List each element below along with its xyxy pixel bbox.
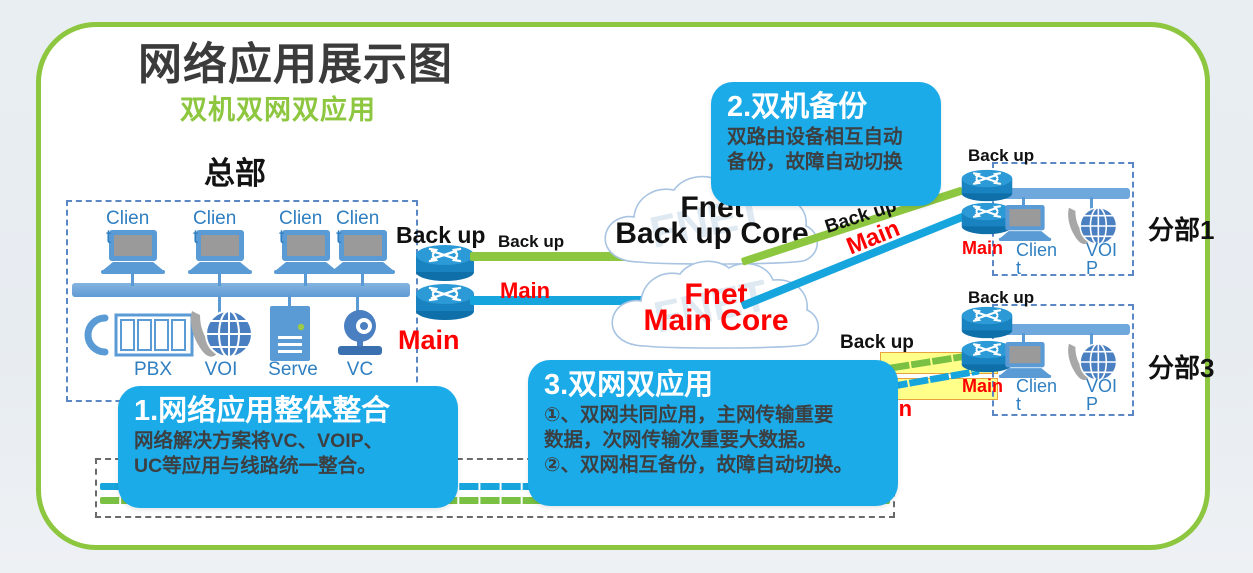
- callout-3-body-line-3: ②、双网相互备份，故障自动切换。: [544, 453, 882, 478]
- branch-1-bus: [996, 188, 1130, 199]
- hq-client-1-stub: [131, 274, 134, 286]
- hq-client-1-label: Client: [106, 209, 152, 247]
- callout-2-body: 双路由设备相互自动 备份，故障自动切换: [727, 125, 925, 175]
- branch-1-client-label: Client: [1016, 241, 1062, 277]
- branch-1-router-backup: [960, 168, 1014, 203]
- callout-2-body-line-1: 双路由设备相互自动: [727, 125, 925, 150]
- callout-1-title: 1.网络应用整体整合: [134, 395, 442, 427]
- voip-icon: [186, 305, 256, 363]
- branch-1-router-backup-label: Back up: [968, 146, 1034, 166]
- hq-router-backup: [414, 243, 476, 283]
- hq-client-2-label: Client: [193, 209, 239, 247]
- callout-1-body-line-1: 网络解决方案将VC、VOIP、: [134, 429, 442, 454]
- hq-client-3-stub: [304, 274, 307, 286]
- branch-3-client-label: Client: [1016, 377, 1062, 413]
- branch-3-title: 分部3: [1148, 348, 1214, 385]
- server-label: Serve: [258, 360, 328, 379]
- pbx-label: PBX: [118, 360, 188, 379]
- branch-1-router-main-label: Main: [962, 238, 1003, 259]
- branch-3-router-backup: [960, 305, 1014, 340]
- page-subtitle: 双机双网双应用: [180, 88, 376, 127]
- branch-1-title: 分部1: [1148, 210, 1214, 247]
- hq-client-2-stub: [218, 274, 221, 286]
- hq-client-3-label: Client: [279, 209, 325, 247]
- callout-1-body-line-2: UC等应用与线路统一整合。: [134, 454, 442, 479]
- hq-client-4-stub: [361, 274, 364, 286]
- branch-1-client-icon: [998, 204, 1052, 242]
- callout-2[interactable]: 2.双机备份 双路由设备相互自动 备份，故障自动切换: [711, 82, 941, 206]
- hq-main-link-label: Main: [500, 278, 550, 304]
- branch-3-client-icon: [998, 341, 1052, 379]
- branch3-backup-link-label: Back up: [840, 332, 914, 354]
- pbx-icon: [92, 310, 196, 360]
- headquarters-bus: [72, 283, 410, 297]
- branch-3-voip-label: VOIP: [1086, 377, 1122, 413]
- branch-3-router-main-label: Main: [962, 376, 1003, 397]
- hq-router-main-label: Main: [398, 325, 460, 356]
- callout-1-body: 网络解决方案将VC、VOIP、 UC等应用与线路统一整合。: [134, 429, 442, 479]
- headquarters-title: 总部: [204, 148, 266, 193]
- branch-3-bus: [996, 324, 1130, 335]
- voip-label: VOI: [191, 360, 251, 379]
- callout-2-title: 2.双机备份: [727, 91, 925, 123]
- hq-backup-link-label: Back up: [498, 232, 564, 252]
- vc-label: VC: [331, 360, 389, 379]
- vc-icon: [330, 308, 390, 360]
- branch-1-voip-label: VOIP: [1086, 241, 1122, 277]
- diagram-canvas: 网络应用展示图 双机双网双应用 总部 Client Client: [0, 0, 1253, 573]
- callout-3-body-line-1: ①、双网共同应用，主网传输重要: [544, 403, 882, 428]
- main-core-cloud: FNET Fnet Main Core: [600, 255, 832, 359]
- callout-3-title: 3.双网双应用: [544, 369, 882, 401]
- callout-3[interactable]: 3.双网双应用 ①、双网共同应用，主网传输重要 数据，次网传输次重要大数据。 ②…: [528, 360, 898, 506]
- main-core-line2: Main Core: [600, 305, 832, 337]
- hq-client-4-label: Client: [336, 209, 382, 247]
- hq-router-main: [414, 282, 476, 322]
- server-icon: [268, 305, 312, 362]
- callout-3-body-line-2: 数据，次网传输次重要大数据。: [544, 428, 882, 453]
- page-title: 网络应用展示图: [138, 28, 453, 92]
- callout-2-body-line-2: 备份，故障自动切换: [727, 150, 925, 175]
- callout-1[interactable]: 1.网络应用整体整合 网络解决方案将VC、VOIP、 UC等应用与线路统一整合。: [118, 386, 458, 508]
- callout-3-body: ①、双网共同应用，主网传输重要 数据，次网传输次重要大数据。 ②、双网相互备份，…: [544, 403, 882, 478]
